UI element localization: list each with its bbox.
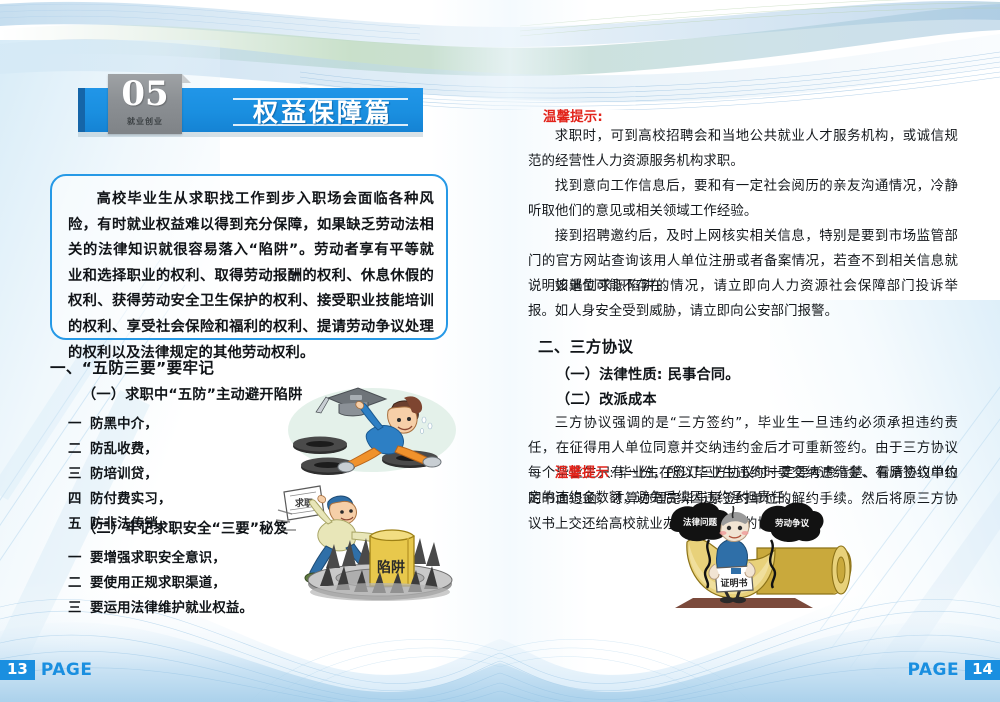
chapter-banner: 权益保障篇 05 就业创业 [78, 88, 423, 138]
illustration-job-seeker-trap: 求职 [272, 480, 462, 602]
left-sub1-heading: （一）求职中“五防”主动避开陷阱 [82, 384, 302, 404]
right-tip-label: 温馨提示: [543, 105, 603, 125]
inline-tip-label: 温馨提示 [555, 466, 609, 481]
list-marker: 三 [68, 462, 90, 482]
list-text: 要使用正规求职渠道， [90, 576, 226, 591]
right-page-number: 14 [965, 660, 1000, 680]
left-sub2-heading: （二）牢记求职安全“三要”秘笈 [82, 518, 288, 538]
graduate-pitfalls-svg [282, 384, 460, 476]
right-page-label: PAGE [908, 660, 960, 680]
gold-bar-label: 陷阱 [377, 559, 405, 576]
list-text: 要增强求职安全意识， [90, 551, 226, 566]
list-text: 防乱收费， [90, 442, 158, 457]
list-text: 防黑中介， [90, 417, 158, 432]
list-item: 三防培训贷， [68, 462, 158, 482]
gold-bar: 陷阱 [370, 530, 414, 586]
job-seeker-trap-svg: 求职 [272, 480, 462, 602]
illustration-labor-dispute-scroll: 法律问题 劳动争议 [645, 498, 860, 610]
list-marker: 三 [68, 596, 90, 616]
list-text: 要运用法律维护就业权益。 [90, 601, 253, 616]
thought-cloud-right: 劳动争议 [760, 502, 824, 542]
chapter-sub-label: 就业创业 [108, 114, 182, 128]
chapter-number-badge: 05 就业创业 [108, 74, 182, 134]
badge-corner-fold [182, 74, 191, 83]
tip-paragraph: 找到意向工作信息后，要和有一定社会阅历的亲友沟通情况，冷静听取他们的意见或相关领… [528, 174, 958, 224]
list-text: 防培训贷， [90, 467, 158, 482]
list-item: 三要运用法律维护就业权益。 [68, 596, 253, 616]
list-item: 二防乱收费， [68, 437, 158, 457]
left-section-heading: 一、“五防三要”要牢记 [50, 356, 214, 378]
right-sub1-heading: （一）法律性质: 民事合同。 [556, 364, 740, 384]
footer-left-page: 13 PAGE [0, 659, 93, 680]
intro-callout-box: 高校毕业生从求职找工作到步入职场会面临各种风险，有时就业权益难以得到充分保障，如… [50, 174, 448, 340]
list-item: 二要使用正规求职渠道， [68, 571, 226, 591]
list-marker: 四 [68, 487, 90, 507]
thought-cloud-right-label: 劳动争议 [775, 518, 810, 529]
list-marker: 一 [68, 412, 90, 432]
brochure-page-spread: 权益保障篇 05 就业创业 高校毕业生从求职找工作到步入职场会面临各种风险，有时… [0, 0, 1000, 702]
page-title: 权益保障篇 [228, 94, 418, 128]
list-item: 一要增强求职安全意识， [68, 546, 226, 566]
list-item: 一防黑中介， [68, 412, 158, 432]
left-page-label: PAGE [41, 660, 93, 680]
left-page-number: 13 [0, 660, 35, 680]
thought-cloud-left: 法律问题 [669, 502, 729, 541]
list-marker: 一 [68, 546, 90, 566]
certificate-label: 证明书 [720, 577, 747, 589]
labor-dispute-scroll-svg: 法律问题 劳动争议 [645, 498, 860, 610]
banner-left-tick [78, 88, 85, 132]
list-marker: 二 [68, 571, 90, 591]
tip-paragraph: 如人身安全受到威胁，请立即向公安部门报警。 [528, 299, 958, 324]
list-item: 四防付费实习， [68, 487, 172, 507]
tip-paragraph: 求职时，可到高校招聘会和当地公共就业人才服务机构，或诚信规范的经营性人力资源服务… [528, 124, 958, 174]
thought-cloud-left-label: 法律问题 [683, 517, 718, 528]
illustration-graduate-pitfalls [282, 384, 460, 476]
intro-body-text: 高校毕业生从求职找工作到步入职场会面临各种风险，有时就业权益难以得到充分保障，如… [68, 187, 434, 366]
list-marker: 二 [68, 437, 90, 457]
chapter-number: 05 [108, 72, 182, 116]
list-text: 防付费实习， [90, 492, 172, 507]
footer-right-page: PAGE 14 [908, 659, 1000, 680]
right-section-heading: 二、三方协议 [538, 335, 633, 357]
right-sub2-heading: （二）改派成本 [556, 389, 657, 409]
